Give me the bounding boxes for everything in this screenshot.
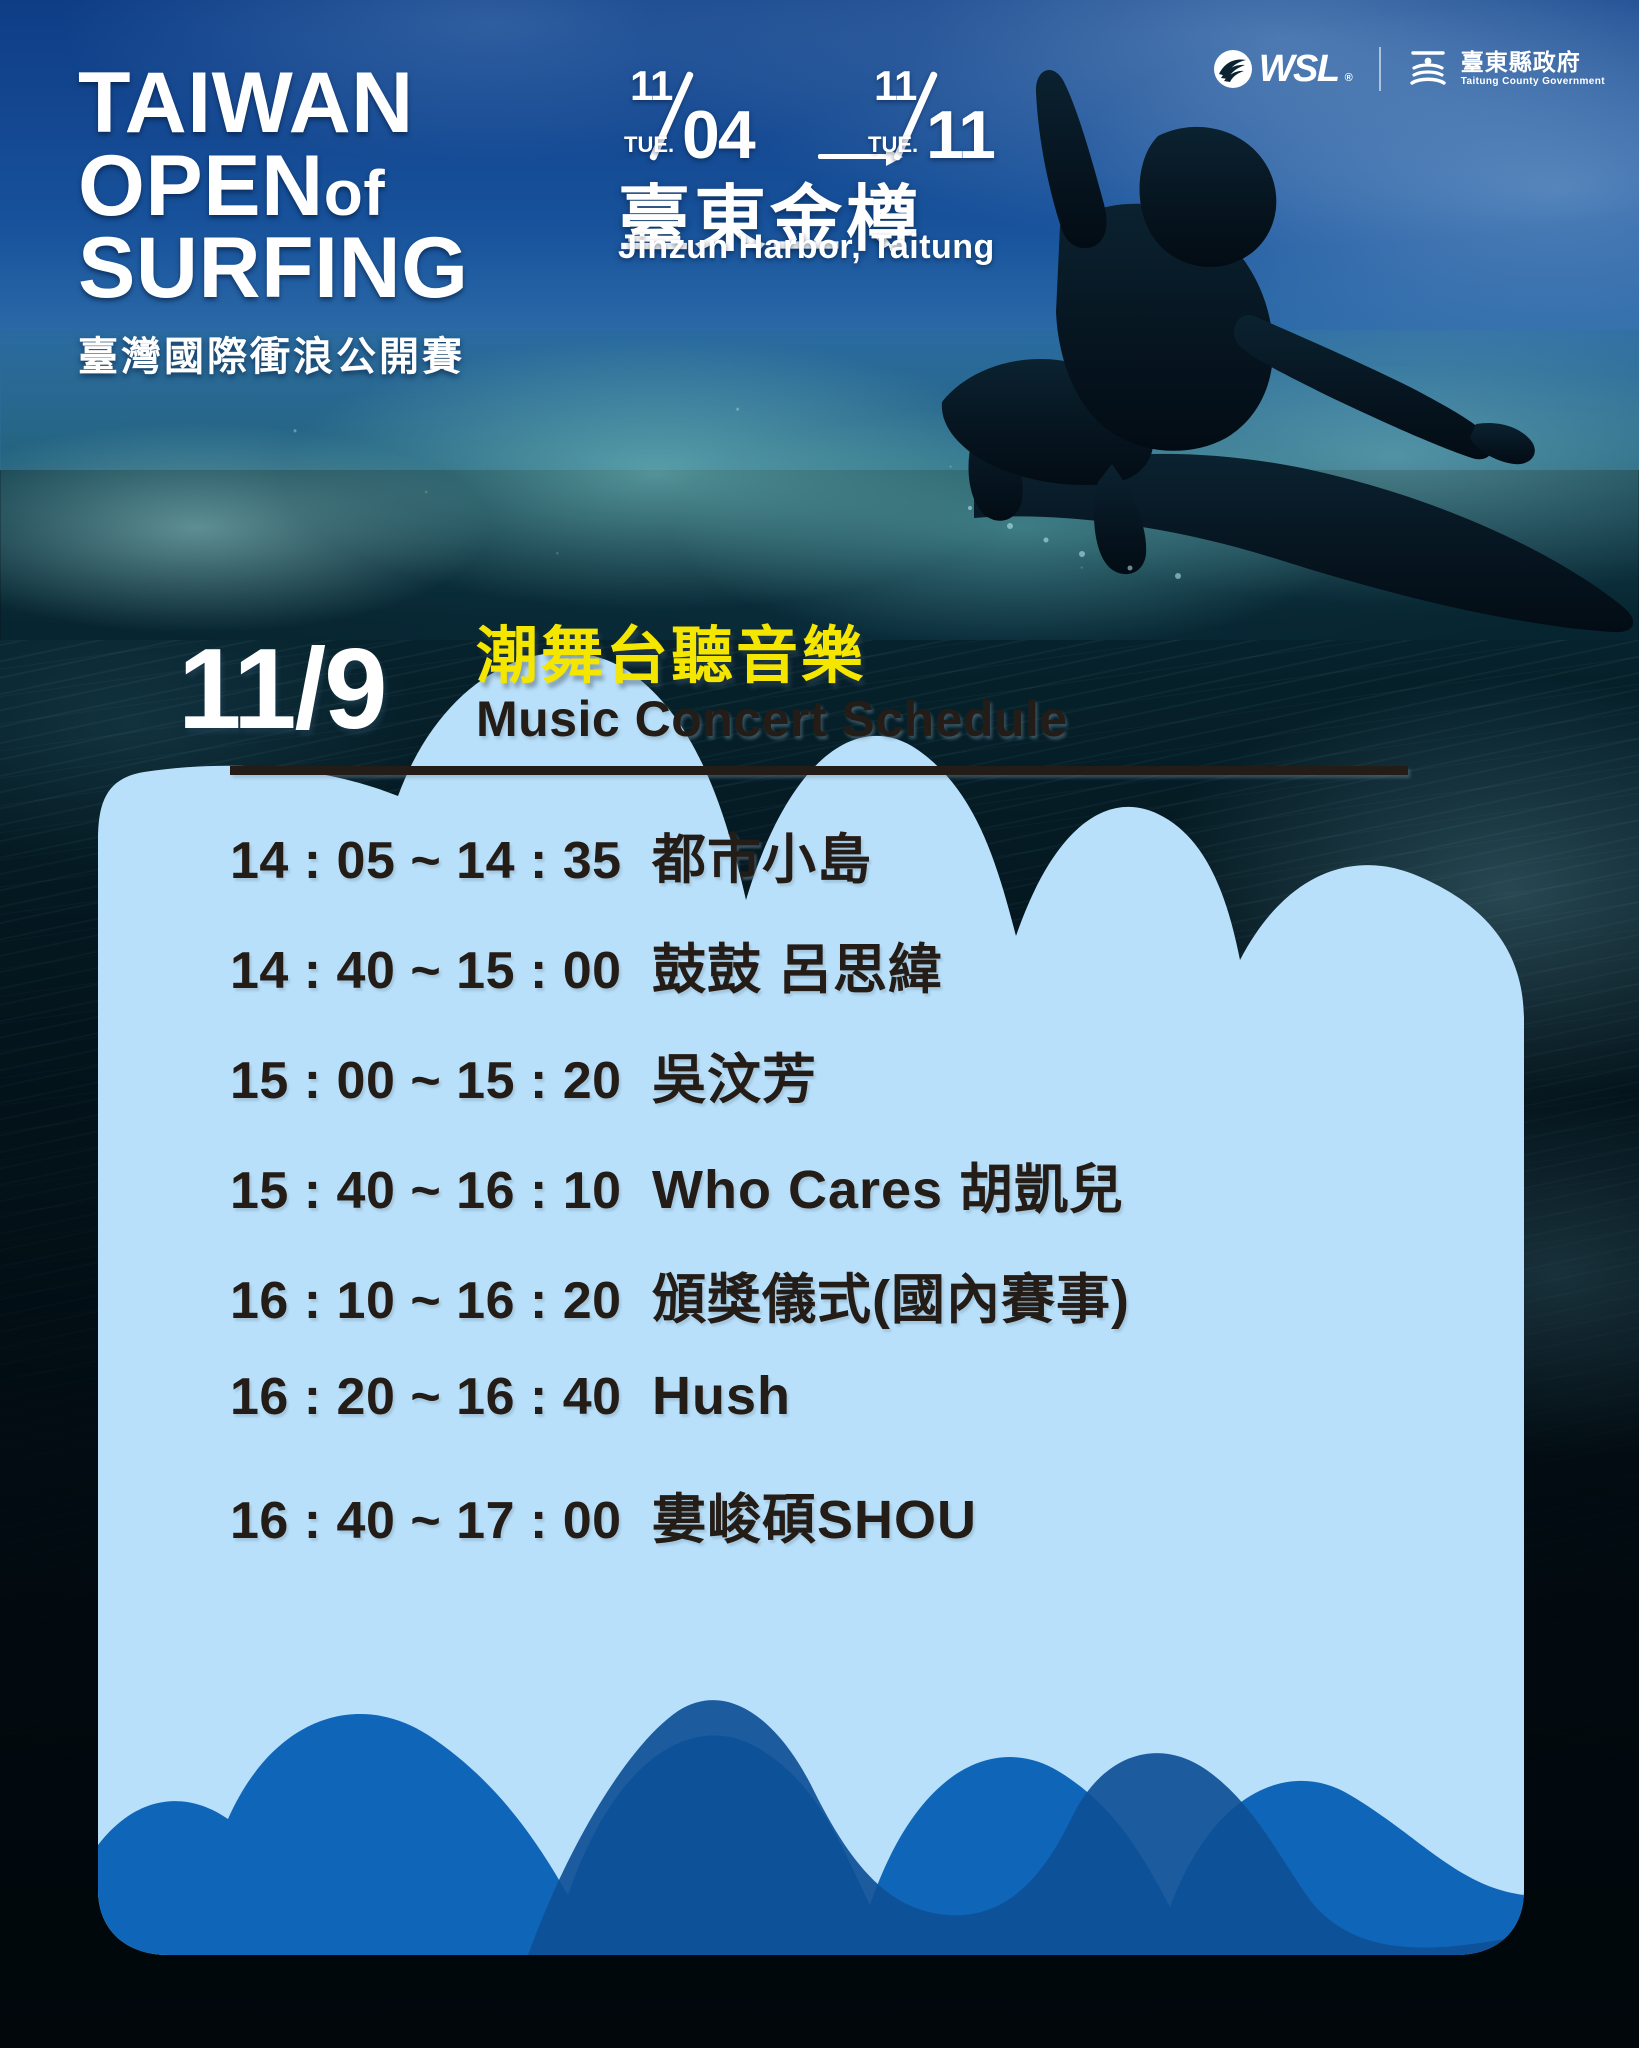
card-bottom-waves xyxy=(98,1595,1524,1955)
schedule-row: 15 : 00 ~ 15 : 20 吳汶芳 xyxy=(230,1035,1420,1145)
end-day: 11 xyxy=(926,96,994,174)
schedule-act: 吳汶芳 xyxy=(652,1035,817,1114)
schedule-time: 15 : 40 ~ 16 : 10 xyxy=(230,1161,570,1221)
poster-canvas: TAIWAN OPENof SURFING 臺灣國際衝浪公開賽 11 TUE. … xyxy=(0,0,1639,2048)
card-big-date: 11/9 xyxy=(178,633,386,747)
end-date-group: 11 TUE. 11 xyxy=(864,62,1054,172)
schedule-row: 14 : 05 ~ 14 : 35 都市小島 xyxy=(230,815,1420,925)
schedule-row: 16 : 10 ~ 16 : 20 頒獎儀式(國內賽事) xyxy=(230,1255,1420,1365)
logo-divider xyxy=(1379,47,1381,91)
schedule-card: 11/9 潮舞台聽音樂 Music Concert Schedule 14 : … xyxy=(98,600,1524,1955)
schedule-act: 頒獎儀式(國內賽事) xyxy=(652,1255,1130,1334)
schedule-act: 鼓鼓 呂思緯 xyxy=(652,925,943,1004)
venue-name-english: Jinzun Harbor, Taitung xyxy=(618,228,995,267)
taitung-county-logo-icon xyxy=(1407,48,1449,90)
card-divider-rule xyxy=(230,766,1408,775)
schedule-time: 15 : 00 ~ 15 : 20 xyxy=(230,1051,570,1111)
start-dow: TUE. xyxy=(624,132,674,158)
schedule-act: 都市小島 xyxy=(652,815,872,894)
schedule-act: 婁峻碩SHOU xyxy=(652,1475,977,1554)
schedule-row: 16 : 40 ~ 17 : 00 婁峻碩SHOU xyxy=(230,1475,1420,1585)
schedule-time: 16 : 20 ~ 16 : 40 xyxy=(230,1367,570,1427)
wsl-logo: WSL ® xyxy=(1213,48,1353,91)
end-dow: TUE. xyxy=(868,132,918,158)
taitung-county-logo: 臺東縣政府 Taitung County Government xyxy=(1407,48,1605,90)
taitung-logo-chinese: 臺東縣政府 xyxy=(1461,50,1581,74)
start-month: 11 xyxy=(630,62,672,110)
start-date-group: 11 TUE. 04 xyxy=(620,62,810,172)
schedule-time: 14 : 05 ~ 14 : 35 xyxy=(230,831,570,891)
schedule-rows: 14 : 05 ~ 14 : 35 都市小島 14 : 40 ~ 15 : 00… xyxy=(230,815,1420,1585)
schedule-time: 14 : 40 ~ 15 : 00 xyxy=(230,941,570,1001)
schedule-time: 16 : 10 ~ 16 : 20 xyxy=(230,1271,570,1331)
title-of-word: of xyxy=(324,157,385,229)
schedule-time: 16 : 40 ~ 17 : 00 xyxy=(230,1491,570,1551)
end-month: 11 xyxy=(874,62,916,110)
wsl-trademark-symbol: ® xyxy=(1345,72,1353,84)
wsl-wordmark: WSL xyxy=(1259,48,1339,91)
sponsor-logo-bar: WSL ® 臺東縣政府 Taitung County Government xyxy=(1213,38,1605,100)
schedule-row: 15 : 40 ~ 16 : 10 Who Cares 胡凱兒 xyxy=(230,1145,1420,1255)
wsl-wave-logo-icon xyxy=(1213,49,1253,89)
card-heading-chinese: 潮舞台聽音樂 xyxy=(476,626,866,688)
schedule-row: 16 : 20 ~ 16 : 40 Hush xyxy=(230,1365,1420,1475)
schedule-act: Hush xyxy=(652,1365,791,1427)
taitung-logo-english: Taitung County Government xyxy=(1461,76,1605,88)
card-heading-english: Music Concert Schedule xyxy=(476,694,1068,744)
schedule-act: Who Cares 胡凱兒 xyxy=(652,1145,1124,1224)
schedule-row: 14 : 40 ~ 15 : 00 鼓鼓 呂思緯 xyxy=(230,925,1420,1035)
title-chinese: 臺灣國際衝浪公開賽 xyxy=(78,324,718,382)
